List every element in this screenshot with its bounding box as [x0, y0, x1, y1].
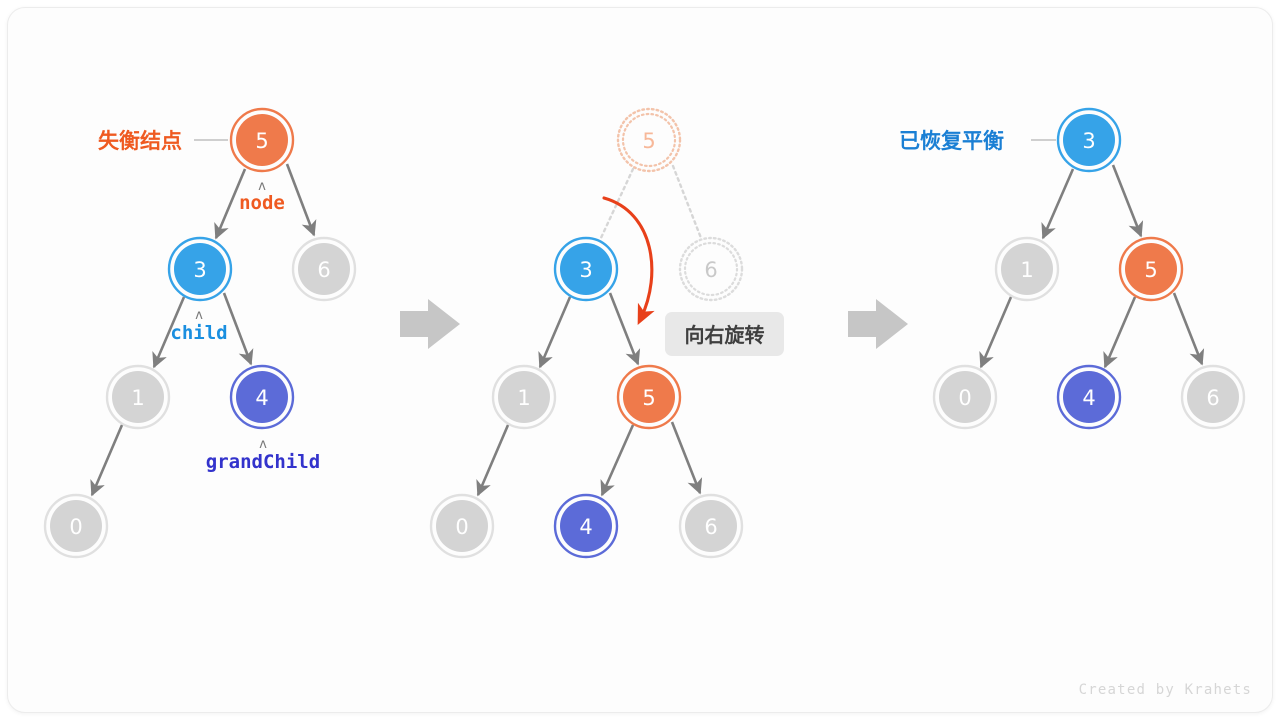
ghost-node-6: 6 [680, 238, 742, 300]
edge-5-6 [672, 422, 700, 493]
step-arrow-icon-2 [848, 299, 908, 349]
node-value: 3 [579, 258, 592, 282]
edge-5-6 [1174, 293, 1202, 364]
edge-3-4 [224, 293, 251, 364]
tree-node-5[interactable]: 5 [1120, 238, 1182, 300]
tree-node-4[interactable]: 4 [555, 495, 617, 557]
rotate-badge: 向右旋转 [665, 312, 784, 356]
tree-node-6[interactable]: 6 [680, 495, 742, 557]
node-value: 4 [255, 386, 268, 410]
ghost-edge-5-6 [673, 166, 701, 238]
edge-5-6 [287, 164, 314, 235]
tree-node-3[interactable]: 3 [555, 238, 617, 300]
node-value: 5 [255, 129, 268, 153]
diagram-canvas: 5 3 6 1 4 [0, 0, 1280, 720]
node-value: 1 [131, 386, 144, 410]
tree-node-1[interactable]: 1 [493, 366, 555, 428]
tree-rotation-illustration: 5 3 6 1 4 [0, 0, 1280, 720]
node-value: 0 [69, 515, 82, 539]
tree-node-6[interactable]: 6 [1182, 366, 1244, 428]
node-value: 3 [1082, 129, 1095, 153]
node-value: 0 [958, 386, 971, 410]
edge-3-1 [1043, 169, 1073, 238]
node-value: 5 [642, 129, 655, 153]
tree-node-5[interactable]: 5 [231, 109, 293, 171]
node-value: 6 [704, 258, 717, 282]
node-value: 6 [1206, 386, 1219, 410]
unbalanced-node-label: 失衡结点 [98, 129, 182, 153]
node-value: 0 [455, 515, 468, 539]
node-pointer-label: node [239, 192, 285, 214]
tree-node-3[interactable]: 3 [1058, 109, 1120, 171]
node-value: 6 [317, 258, 330, 282]
edge-3-1 [540, 297, 570, 367]
tree-node-4[interactable]: 4 [1058, 366, 1120, 428]
edge-3-5 [610, 293, 638, 364]
credit-text: Created by Krahets [1079, 682, 1252, 698]
child-pointer-label: child [170, 322, 227, 344]
tree-node-6[interactable]: 6 [293, 238, 355, 300]
node-value: 6 [704, 515, 717, 539]
tree-node-1[interactable]: 1 [996, 238, 1058, 300]
node-value: 5 [1144, 258, 1157, 282]
step-arrow-icon-1 [400, 299, 460, 349]
node-value: 5 [642, 386, 655, 410]
tree-node-5[interactable]: 5 [618, 366, 680, 428]
node-value: 4 [579, 515, 592, 539]
caret-grandchild: ʌ [259, 437, 267, 452]
tree-node-0[interactable]: 0 [934, 366, 996, 428]
tree-node-0[interactable]: 0 [45, 495, 107, 557]
tree-node-0[interactable]: 0 [431, 495, 493, 557]
edge-1-0 [981, 297, 1011, 367]
ghost-node-5: 5 [618, 109, 680, 171]
balanced-tree: 3 1 5 0 4 [934, 109, 1244, 428]
edge-1-0 [92, 425, 122, 495]
grandchild-pointer-label: grandChild [206, 451, 320, 473]
tree-node-1[interactable]: 1 [107, 366, 169, 428]
edge-5-4 [602, 425, 633, 495]
node-value: 1 [517, 386, 530, 410]
edge-1-0 [478, 425, 508, 495]
node-value: 1 [1020, 258, 1033, 282]
rotate-badge-label: 向右旋转 [685, 323, 765, 347]
tree-node-4[interactable]: 4 [231, 366, 293, 428]
tree-node-3[interactable]: 3 [169, 238, 231, 300]
edge-3-5 [1113, 165, 1141, 236]
node-value: 3 [193, 258, 206, 282]
edge-5-4 [1105, 297, 1135, 367]
caret-child: ʌ [195, 308, 203, 323]
node-value: 4 [1082, 386, 1095, 410]
balanced-label: 已恢复平衡 [899, 129, 1004, 153]
